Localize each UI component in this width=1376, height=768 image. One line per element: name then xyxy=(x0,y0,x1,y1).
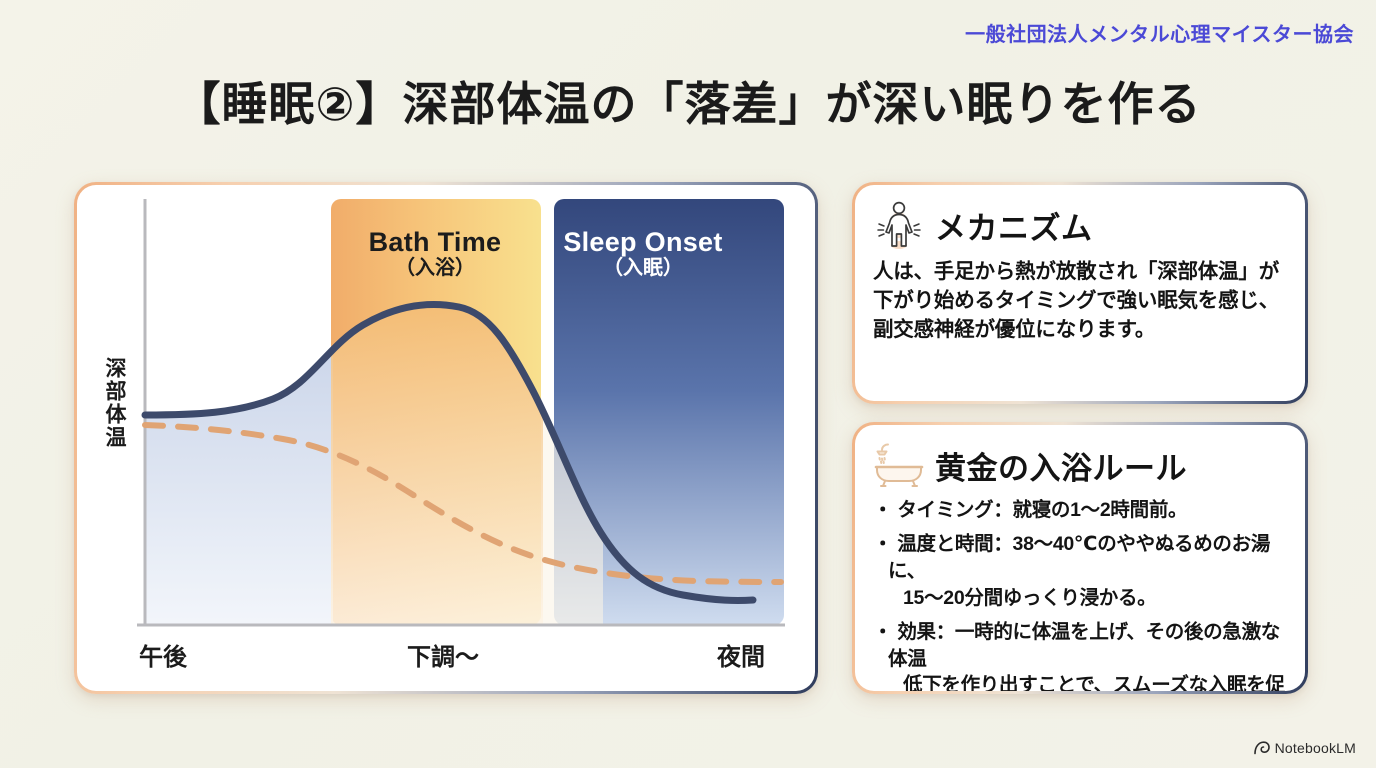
bathtub-icon xyxy=(873,439,925,491)
mechanism-card: メカニズム 人は、手足から熱が放散され「深部体温」が下がり始めるタイミングで強い… xyxy=(852,182,1308,404)
bath-rule-item-timing: タイミング：就寝の1〜2時間前。 xyxy=(873,497,1285,524)
bath-rule-item-effect-line1: 効果：一時的に体温を上げ、その後の急激な体温 xyxy=(888,621,1280,670)
x-tick-night: 夜間 xyxy=(717,637,765,672)
core-temperature-chart xyxy=(77,185,815,691)
mechanism-title: メカニズム xyxy=(935,203,1093,248)
page-title: 【睡眠②】深部体温の「落差」が深い眠りを作る xyxy=(0,68,1376,134)
association-name: 一般社団法人メンタル心理マイスター協会 xyxy=(965,18,1354,47)
mechanism-header: メカニズム xyxy=(873,199,1285,251)
bath-rule-title: 黄金の入浴ルール xyxy=(935,443,1187,488)
notebooklm-watermark-label: NotebookLM xyxy=(1275,740,1356,756)
bath-rule-item-temperature: 温度と時間：38〜40℃のややぬるめのお湯に、 15〜20分間ゆっくり浸かる。 xyxy=(873,531,1285,612)
notebooklm-watermark: NotebookLM xyxy=(1254,740,1356,756)
bath-rule-list: タイミング：就寝の1〜2時間前。 温度と時間：38〜40℃のややぬるめのお湯に、… xyxy=(873,497,1285,691)
bath-rule-card: 黄金の入浴ルール タイミング：就寝の1〜2時間前。 温度と時間：38〜40℃のや… xyxy=(852,422,1308,694)
mechanism-card-inner: メカニズム 人は、手足から熱が放散され「深部体温」が下がり始めるタイミングで強い… xyxy=(855,185,1305,401)
chart-card-inner: Bath Time （入浴） Sleep Onset （入眠） 深部体温 午後 … xyxy=(77,185,815,691)
bath-rule-item-timing-line1: タイミング：就寝の1〜2時間前。 xyxy=(897,499,1187,521)
y-axis-title: 深部体温 xyxy=(99,357,125,449)
mechanism-body-text: 人は、手足から熱が放散され「深部体温」が下がり始めるタイミングで強い眠気を感じ、… xyxy=(873,257,1285,344)
bath-rule-item-temperature-line1: 温度と時間：38〜40℃のややぬるめのお湯に、 xyxy=(888,533,1270,582)
chart-card: Bath Time （入浴） Sleep Onset （入眠） 深部体温 午後 … xyxy=(74,182,818,694)
bath-rule-item-effect: 効果：一時的に体温を上げ、その後の急激な体温 低下を作り出すことで、スムーズな入… xyxy=(873,619,1285,691)
bath-rule-item-effect-line2: 低下を作り出すことで、スムーズな入眠を促進。 xyxy=(888,672,1285,691)
x-tick-afternoon: 午後 xyxy=(139,637,187,672)
bath-rule-header: 黄金の入浴ルール xyxy=(873,439,1285,491)
notebooklm-logo-icon xyxy=(1254,741,1270,755)
bath-rule-item-temperature-line2: 15〜20分間ゆっくり浸かる。 xyxy=(888,585,1285,612)
bath-rule-card-inner: 黄金の入浴ルール タイミング：就寝の1〜2時間前。 温度と時間：38〜40℃のや… xyxy=(855,425,1305,691)
x-tick-middle: 下調～ xyxy=(407,637,479,672)
person-heat-icon xyxy=(873,199,925,251)
